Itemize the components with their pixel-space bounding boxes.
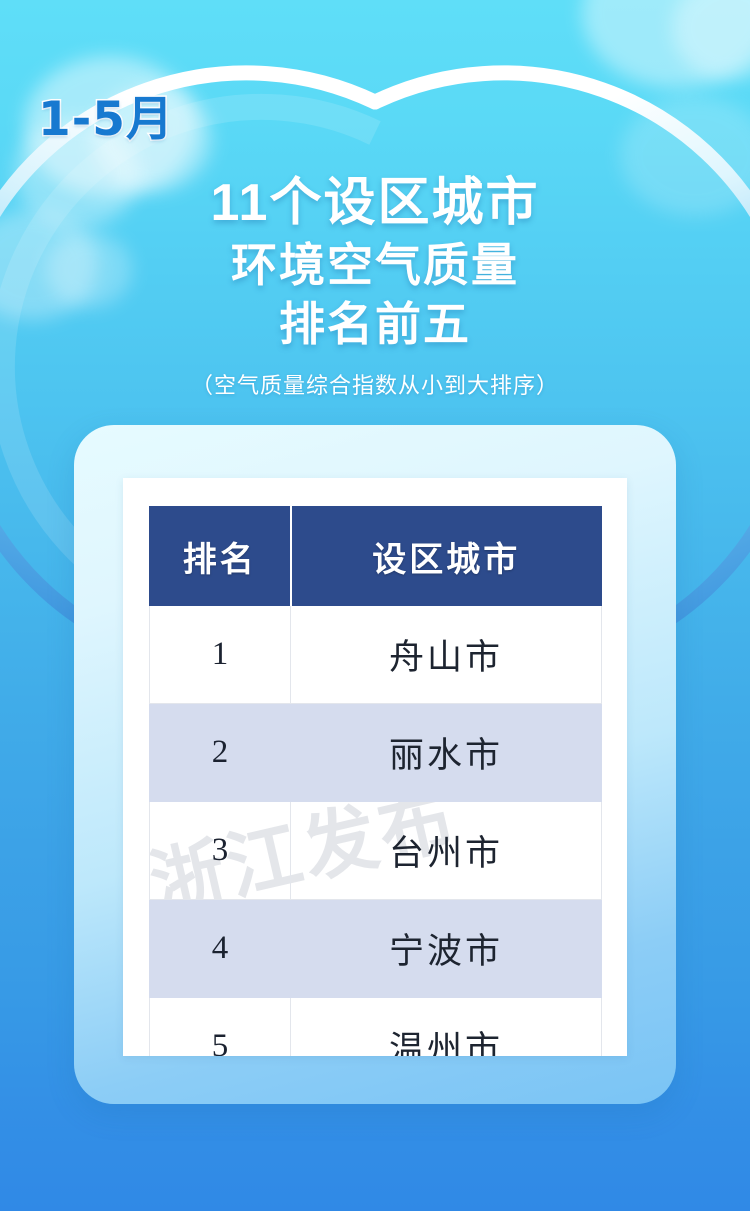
title-subtitle: （空气质量综合指数从小到大排序） (0, 368, 750, 400)
poster-root: 1-5月 11个设区城市 环境空气质量 排名前五 （空气质量综合指数从小到大排序… (0, 0, 750, 1211)
title-line-1: 11个设区城市 (0, 172, 750, 235)
title-line-3: 排名前五 (0, 296, 750, 352)
column-header-rank: 排名 (150, 507, 291, 606)
column-header-city: 设区城市 (291, 507, 602, 606)
month-range-badge: 1-5月 (26, 82, 186, 146)
table-header-row: 排名 设区城市 (150, 507, 602, 606)
cell-city: 台州市 (291, 802, 602, 900)
month-range-label: 1-5月 (38, 80, 174, 149)
cell-rank: 5 (150, 998, 291, 1057)
cell-rank: 3 (150, 802, 291, 900)
ranking-table: 排名 设区城市 1 舟山市 2 丽水市 3 台州市 (149, 506, 602, 1056)
cloud-shape (582, 0, 750, 88)
cell-city: 丽水市 (291, 704, 602, 802)
table-row: 4 宁波市 (150, 900, 602, 998)
table-header: 排名 设区城市 (150, 507, 602, 606)
cloud-shape (672, 0, 750, 80)
cell-city: 舟山市 (291, 606, 602, 704)
table-row: 1 舟山市 (150, 606, 602, 704)
ranking-card: 浙江发布 排名 设区城市 1 舟山市 (74, 425, 676, 1104)
table-row: 3 台州市 (150, 802, 602, 900)
title-line-2: 环境空气质量 (0, 237, 750, 293)
cell-city: 宁波市 (291, 900, 602, 998)
cell-rank: 1 (150, 606, 291, 704)
cell-rank: 2 (150, 704, 291, 802)
cell-rank: 4 (150, 900, 291, 998)
table-row: 5 温州市 (150, 998, 602, 1057)
ranking-panel: 浙江发布 排名 设区城市 1 舟山市 (123, 478, 627, 1056)
cell-city: 温州市 (291, 998, 602, 1057)
table-row: 2 丽水市 (150, 704, 602, 802)
title-block: 11个设区城市 环境空气质量 排名前五 （空气质量综合指数从小到大排序） (0, 172, 750, 400)
table-body: 1 舟山市 2 丽水市 3 台州市 4 宁波市 (150, 606, 602, 1057)
